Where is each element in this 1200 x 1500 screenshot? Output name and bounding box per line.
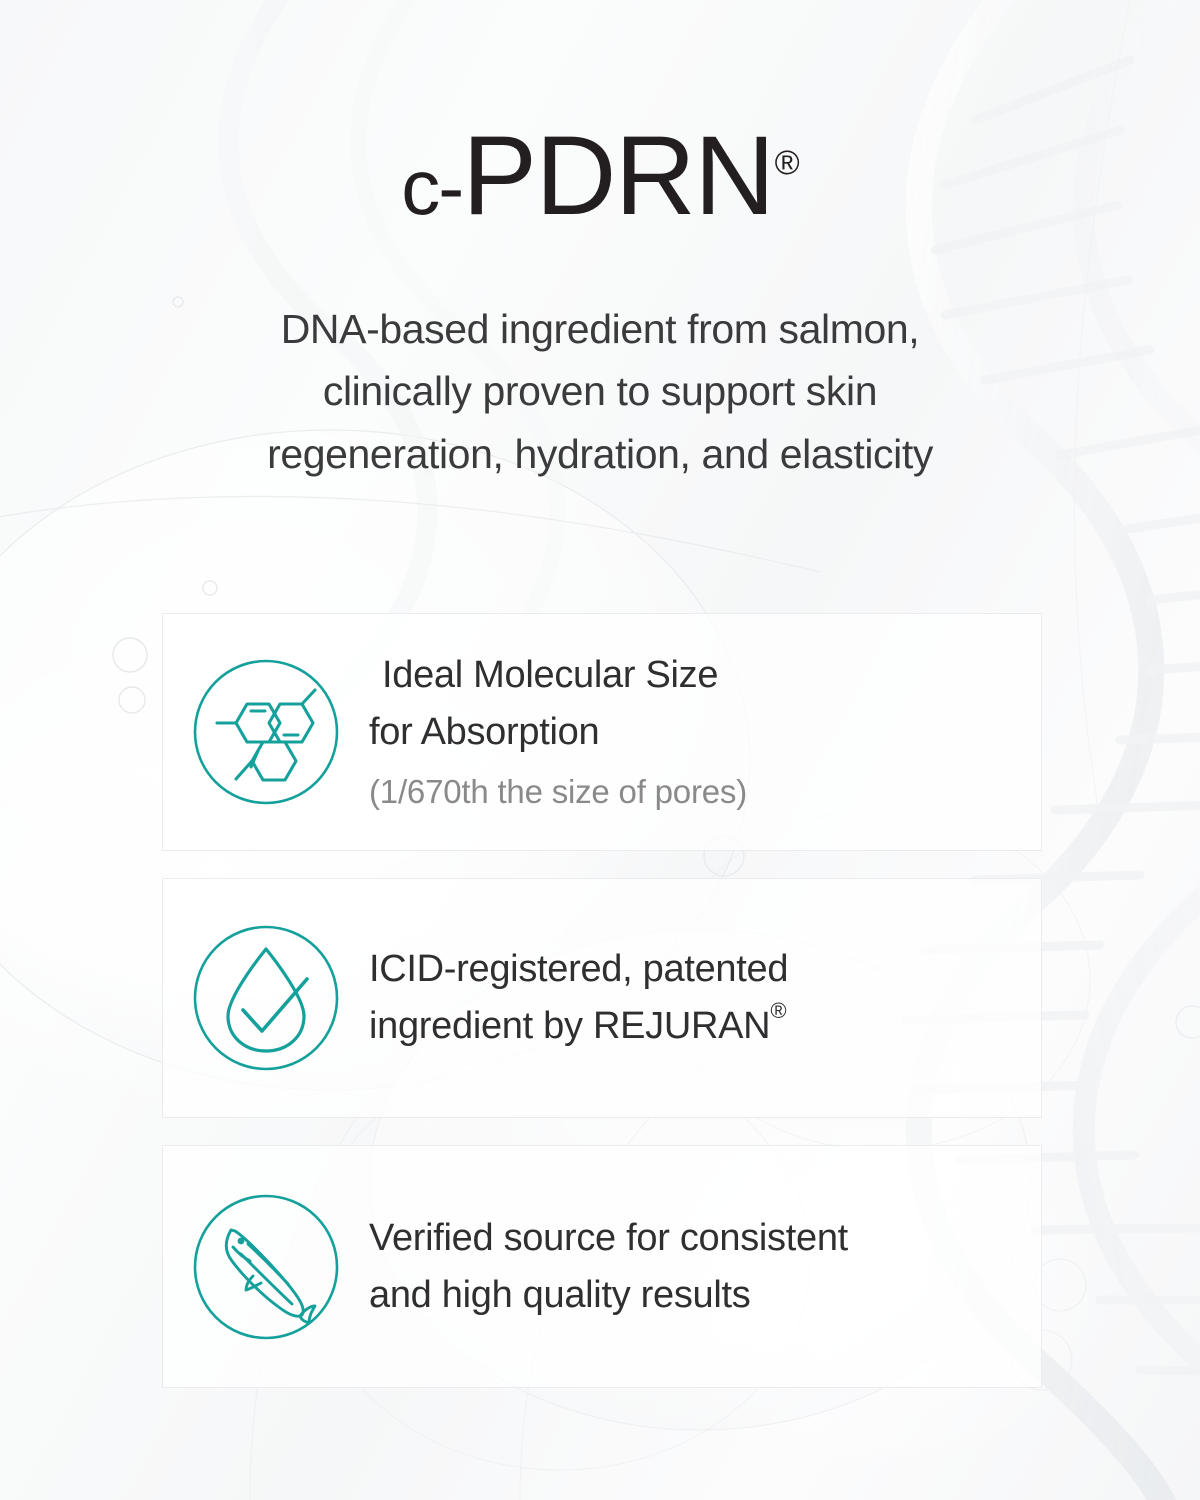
subtitle: DNA-based ingredient from salmon, clinic… [0,298,1200,485]
brand-prefix: c [401,143,438,231]
page-title: c-PDRN® [0,120,1200,232]
feature-line-2-text: ingredient by REJURAN [369,1005,770,1047]
subtitle-line-2: clinically proven to support skin [0,360,1200,422]
feature-card-list: Ideal Molecular Size for Absorption (1/6… [162,613,1042,1388]
header: c-PDRN® DNA-based ingredient from salmon… [0,120,1200,485]
registered-trademark-icon: ® [775,144,800,182]
registered-trademark-icon: ® [770,998,786,1023]
subtitle-line-3: regeneration, hydration, and elasticity [0,423,1200,485]
brand-name: PDRN [462,113,773,238]
product-ingredient-infographic: c-PDRN® DNA-based ingredient from salmon… [0,0,1200,1500]
brand-separator: - [438,143,462,231]
molecule-hexagons-icon [163,657,369,807]
feature-line-1: Verified source for consistent [369,1210,1001,1267]
feature-card-verified-source: Verified source for consistent and high … [162,1145,1042,1388]
feature-line-2: ingredient by REJURAN® [369,998,1001,1055]
feature-card-molecular-size: Ideal Molecular Size for Absorption (1/6… [162,613,1042,851]
subtitle-line-1: DNA-based ingredient from salmon, [0,298,1200,360]
feature-subtext: (1/670th the size of pores) [369,767,1001,817]
feature-line-2: for Absorption [369,704,1001,761]
water-drop-check-icon [163,923,369,1073]
feature-card-icid-registered: ICID-registered, patented ingredient by … [162,878,1042,1118]
feature-line-2: and high quality results [369,1267,1001,1324]
salmon-fish-icon [163,1192,369,1342]
feature-card-text: ICID-registered, patented ingredient by … [369,941,1041,1055]
feature-line-1: ICID-registered, patented [369,941,1001,998]
feature-line-1: Ideal Molecular Size [369,647,1001,704]
feature-card-text: Verified source for consistent and high … [369,1210,1041,1324]
feature-card-text: Ideal Molecular Size for Absorption (1/6… [369,647,1041,817]
